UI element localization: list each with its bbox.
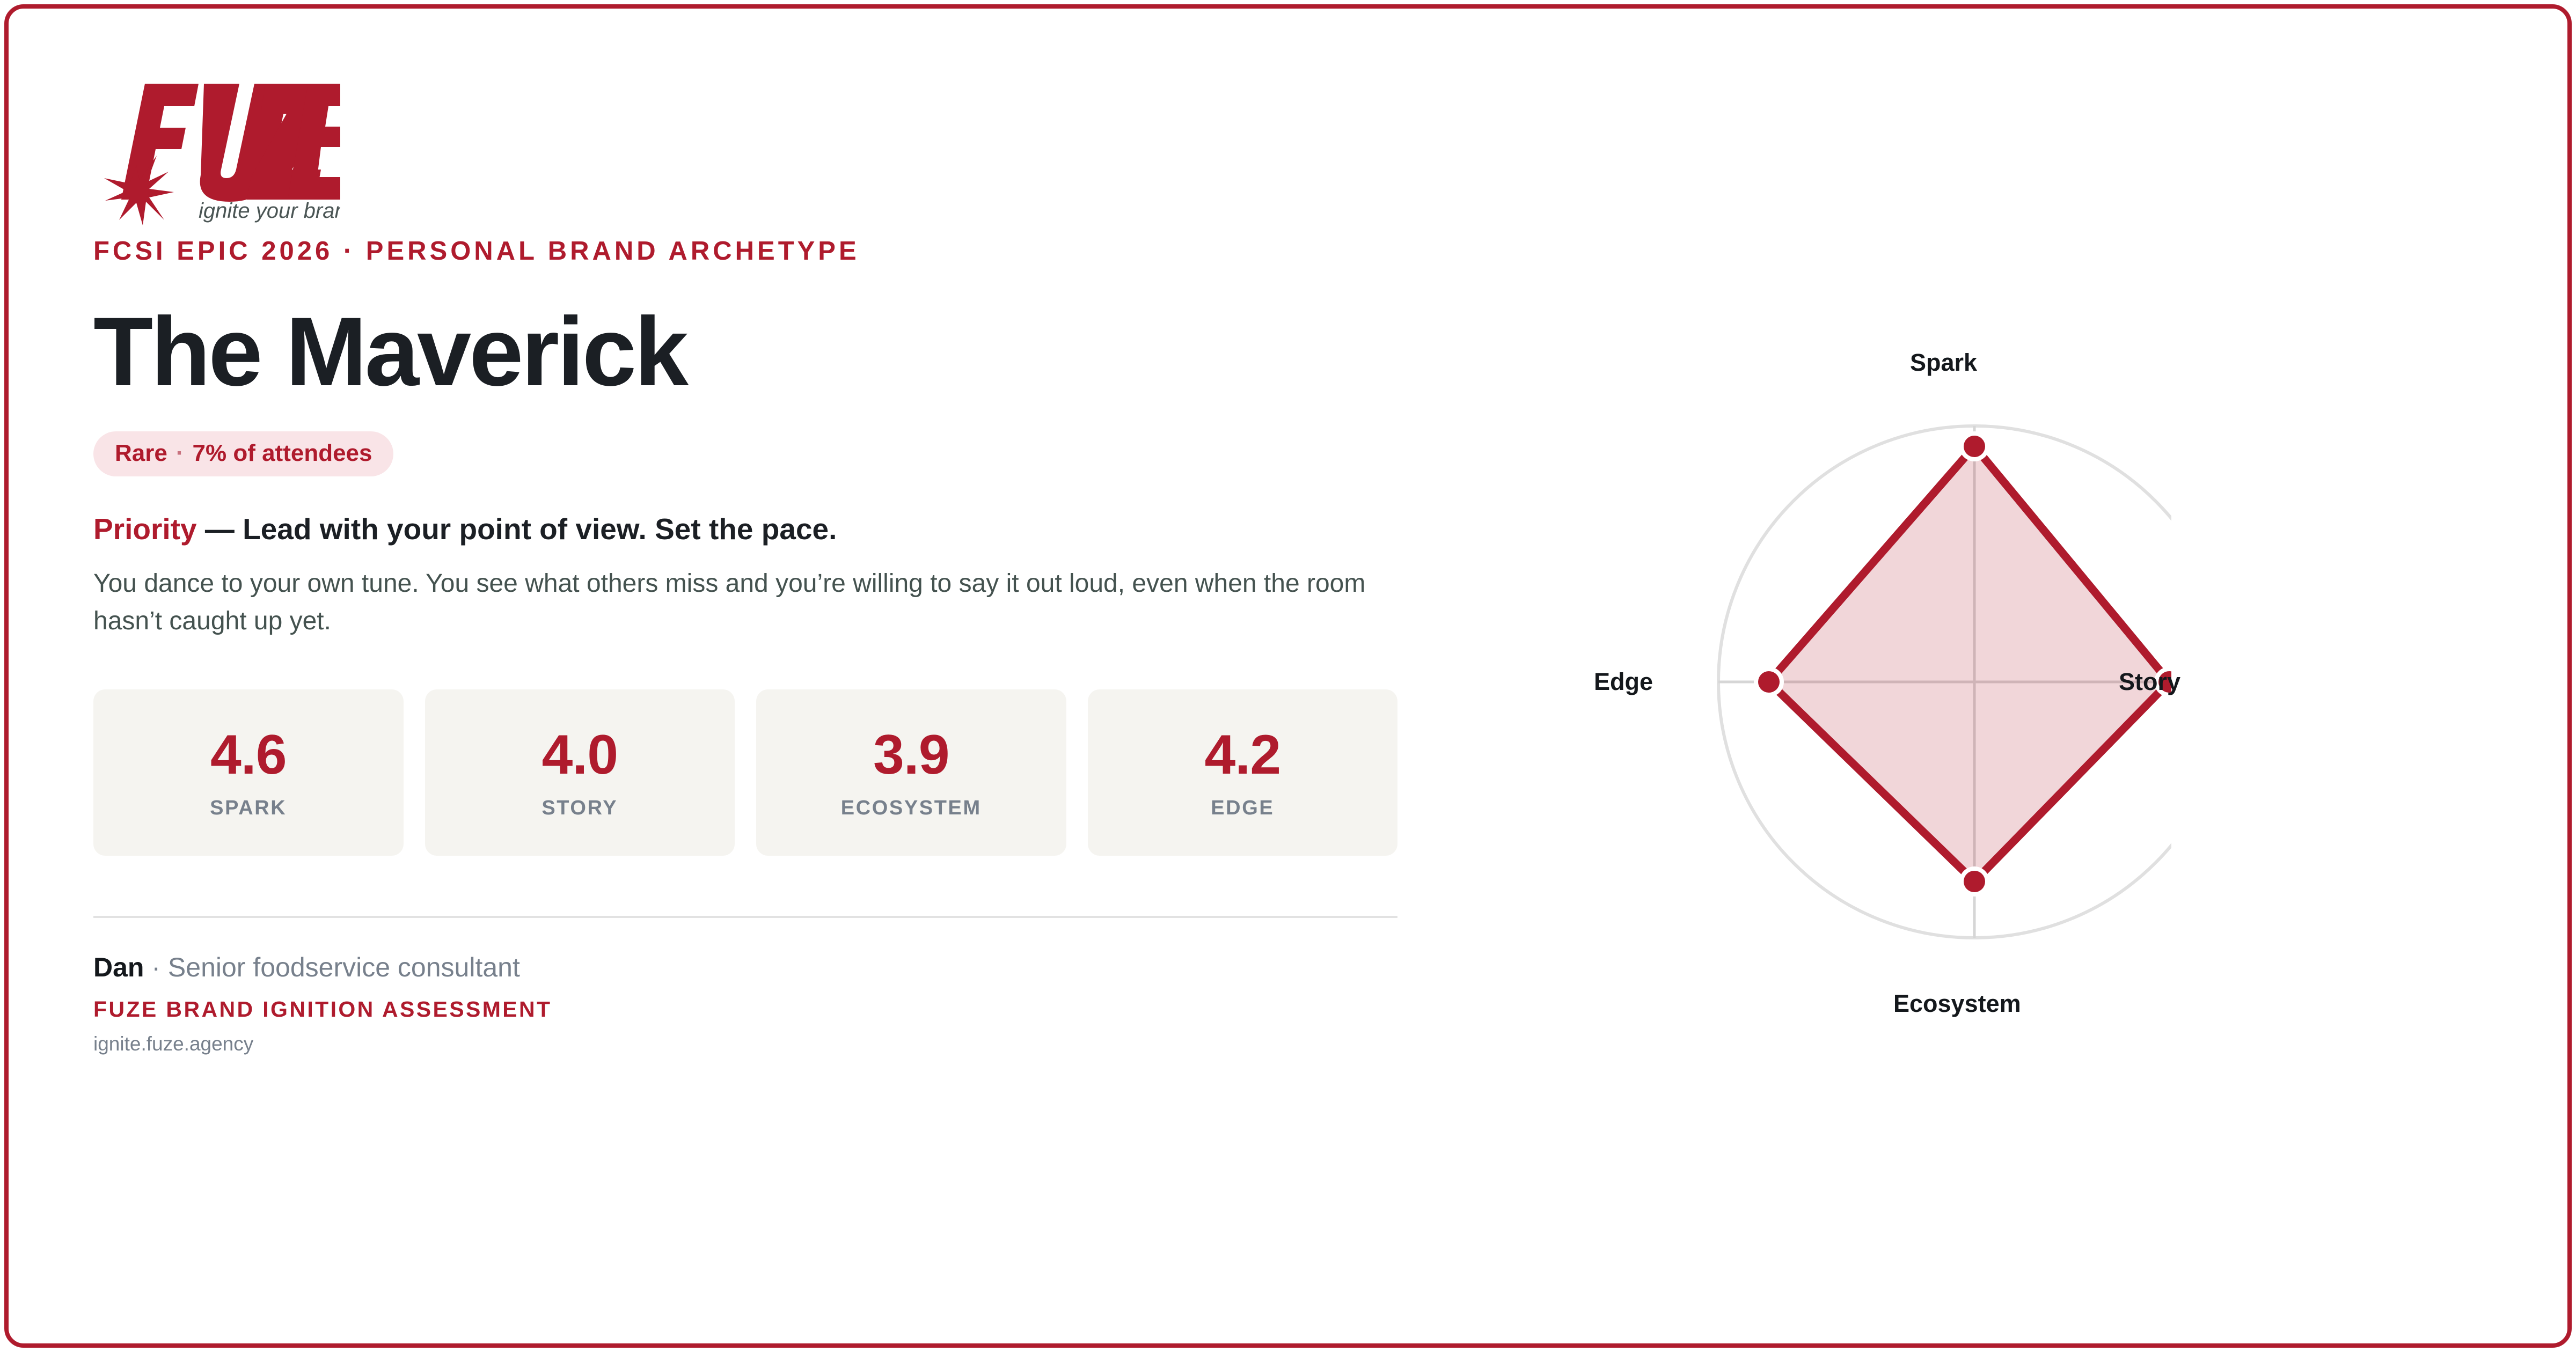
score-card-grid: 4.6 SPARK 4.0 STORY 3.9 ECOSYSTEM 4.2 ED… xyxy=(93,689,1397,856)
radar-label-edge: Edge xyxy=(1594,670,1653,694)
score-label: ECOSYSTEM xyxy=(841,798,982,818)
priority-key: Priority xyxy=(93,512,197,546)
priority-dash: — xyxy=(197,512,243,546)
score-value: 4.2 xyxy=(1204,727,1280,783)
radar-label-story: Story xyxy=(2119,670,2180,694)
score-card-story: 4.0 STORY xyxy=(425,689,735,856)
score-value: 4.6 xyxy=(210,727,287,783)
score-value: 4.0 xyxy=(541,727,618,783)
footer-person: Dan · Senior foodservice consultant xyxy=(93,951,1467,983)
archetype-card: ignite your brand. FCSI EPIC 2026 · PERS… xyxy=(4,4,2572,1348)
radar-label-spark: Spark xyxy=(1910,350,1977,374)
radar-data-polygon xyxy=(1769,446,2169,881)
badge-rarity-text: Rare xyxy=(115,442,167,465)
footer-separator: · xyxy=(144,952,167,982)
score-card-spark: 4.6 SPARK xyxy=(93,689,404,856)
badge-row: Rare · 7% of attendees xyxy=(93,431,1467,476)
footer-divider xyxy=(93,916,1397,918)
score-label: STORY xyxy=(541,798,618,818)
score-value: 3.9 xyxy=(873,727,949,783)
eyebrow-label: FCSI EPIC 2026 · PERSONAL BRAND ARCHETYP… xyxy=(93,237,1467,266)
radar-point-ecosystem xyxy=(1964,871,1985,892)
priority-line: Priority — Lead with your point of view.… xyxy=(93,511,1467,548)
footer-role: Senior foodservice consultant xyxy=(168,952,520,982)
score-card-ecosystem: 3.9 ECOSYSTEM xyxy=(756,689,1066,856)
score-label: SPARK xyxy=(210,798,287,818)
archetype-description: You dance to your own tune. You see what… xyxy=(93,565,1397,640)
priority-text: Lead with your point of view. Set the pa… xyxy=(243,512,837,546)
score-card-edge: 4.2 EDGE xyxy=(1088,689,1398,856)
left-column: ignite your brand. FCSI EPIC 2026 · PERS… xyxy=(93,64,1467,1055)
radar-point-spark xyxy=(1964,436,1985,457)
radar-point-edge xyxy=(1758,671,1780,693)
score-label: EDGE xyxy=(1211,798,1274,818)
rarity-badge: Rare · 7% of attendees xyxy=(93,431,393,476)
footer-assessment: FUZE BRAND IGNITION ASSESSMENT xyxy=(93,997,1467,1022)
page-title: The Maverick xyxy=(93,303,1467,400)
footer-url: ignite.fuze.agency xyxy=(93,1033,1467,1055)
footer-name: Dan xyxy=(93,952,144,982)
logo-tagline: ignite your brand. xyxy=(199,199,340,223)
badge-share-text: 7% of attendees xyxy=(193,442,372,465)
radar-label-ecosystem: Ecosystem xyxy=(1893,991,2021,1016)
fuze-logo: ignite your brand. xyxy=(93,64,340,225)
badge-separator: · xyxy=(167,442,193,465)
radar-chart: Spark Story Ecosystem Edge xyxy=(1527,309,2171,1060)
